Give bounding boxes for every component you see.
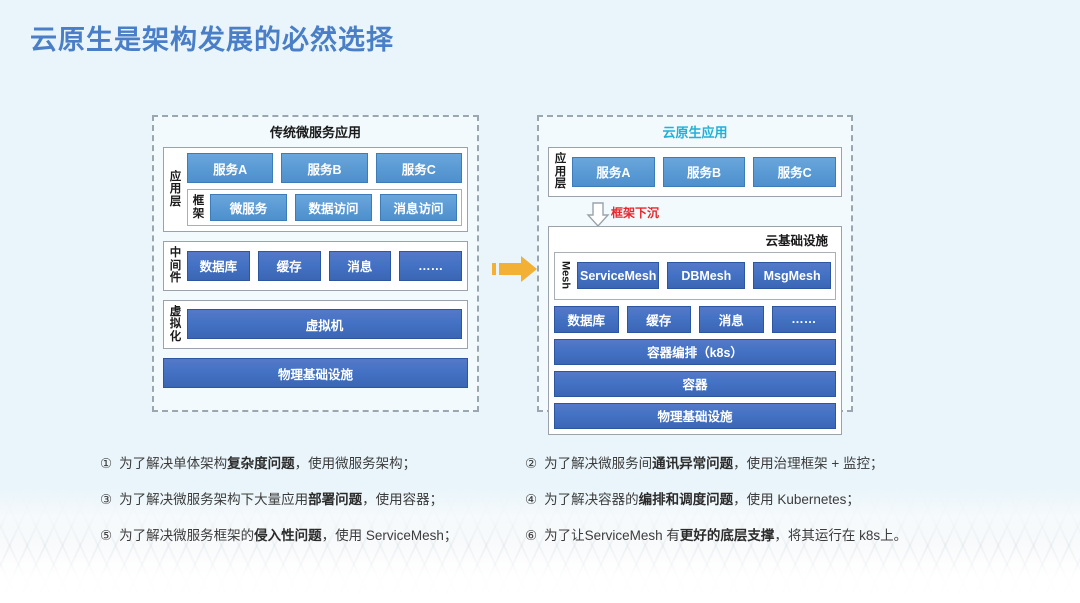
left-app-layer-label: 应用层 (168, 171, 183, 209)
traditional-architecture-panel: 传统微服务应用 应用层 服务A 服务B 服务C 框架 微服务 数据访问 消息访问… (152, 115, 479, 412)
left-app-layer-content: 服务A 服务B 服务C 框架 微服务 数据访问 消息访问 (187, 153, 462, 226)
left-physical-infra-row: 物理基础设施 (163, 358, 468, 388)
bullet-item: ② 为了解决微服务间通讯异常问题，使用治理框架 + 监控； (525, 452, 975, 488)
bullet-text: 为了解决微服务框架的侵入性问题，使用 ServiceMesh； (119, 524, 457, 544)
left-virtualization-group: 虚拟化 虚拟机 (163, 300, 468, 350)
left-middleware-more[interactable]: …… (399, 251, 462, 281)
framework-sink-label: 框架下沉 (611, 204, 659, 221)
container-orchestration[interactable]: 容器编排（k8s） (554, 339, 836, 365)
left-services-row: 服务A 服务B 服务C (187, 153, 462, 183)
right-middleware-row: 数据库 缓存 消息 …… (554, 306, 836, 333)
bullet-item: ⑤ 为了解决微服务框架的侵入性问题，使用 ServiceMesh； (100, 524, 530, 560)
left-middleware-group: 中间件 数据库 缓存 消息 …… (163, 241, 468, 291)
cloud-native-architecture-panel: 云原生应用 应用层 服务A 服务B 服务C 框架下沉 云基础设施 Mesh Se… (537, 115, 853, 412)
mesh-label: Mesh (558, 257, 573, 295)
cloud-infrastructure-title: 云基础设施 (554, 230, 828, 249)
right-physical-infra-row: 物理基础设施 (554, 403, 836, 429)
msg-mesh[interactable]: MsgMesh (753, 262, 831, 289)
bullet-number: ⑥ (525, 528, 537, 544)
left-middleware-database[interactable]: 数据库 (187, 251, 250, 281)
bullet-column-right: ② 为了解决微服务间通讯异常问题，使用治理框架 + 监控； ④ 为了解决容器的编… (525, 452, 975, 560)
container-row: 容器 (554, 371, 836, 397)
page-title: 云原生是架构发展的必然选择 (30, 18, 394, 57)
bullet-number: ② (525, 456, 537, 472)
right-app-layer-label: 应用层 (553, 153, 568, 191)
right-panel-title: 云原生应用 (539, 122, 851, 141)
left-service-c[interactable]: 服务C (376, 153, 462, 183)
bullet-number: ④ (525, 492, 537, 508)
right-service-b[interactable]: 服务B (663, 157, 746, 187)
bullet-text: 为了解决微服务架构下大量应用部署问题，使用容器； (119, 488, 443, 508)
bullet-text: 为了解决微服务间通讯异常问题，使用治理框架 + 监控； (544, 452, 883, 472)
framework-sink-annotation: 框架下沉 (539, 204, 851, 226)
right-middleware-message[interactable]: 消息 (699, 306, 764, 333)
left-app-layer-group: 应用层 服务A 服务B 服务C 框架 微服务 数据访问 消息访问 (163, 147, 468, 232)
bullet-text: 为了让ServiceMesh 有更好的底层支撑，将其运行在 k8s上。 (544, 524, 907, 544)
left-service-a[interactable]: 服务A (187, 153, 273, 183)
left-framework-microservice[interactable]: 微服务 (210, 194, 287, 221)
db-mesh[interactable]: DBMesh (667, 262, 745, 289)
left-framework-message-access[interactable]: 消息访问 (380, 194, 457, 221)
bullet-item: ⑥ 为了让ServiceMesh 有更好的底层支撑，将其运行在 k8s上。 (525, 524, 975, 560)
right-middleware-cache[interactable]: 缓存 (627, 306, 692, 333)
right-service-a[interactable]: 服务A (572, 157, 655, 187)
bullet-number: ① (100, 456, 112, 472)
left-middleware-cache[interactable]: 缓存 (258, 251, 321, 281)
left-framework-row: 微服务 数据访问 消息访问 (210, 194, 457, 221)
right-middleware-database[interactable]: 数据库 (554, 306, 619, 333)
left-framework-data-access[interactable]: 数据访问 (295, 194, 372, 221)
left-framework-label: 框架 (191, 195, 206, 220)
cloud-infrastructure-group: 云基础设施 Mesh ServiceMesh DBMesh MsgMesh 数据… (548, 226, 842, 435)
bullet-text: 为了解决单体架构复杂度问题，使用微服务架构； (119, 452, 416, 472)
right-app-layer-group: 应用层 服务A 服务B 服务C (548, 147, 842, 197)
left-framework-group: 框架 微服务 数据访问 消息访问 (187, 189, 462, 226)
left-virtualization-row: 虚拟机 (187, 309, 462, 339)
mesh-row: ServiceMesh DBMesh MsgMesh (577, 262, 831, 289)
bullet-column-left: ① 为了解决单体架构复杂度问题，使用微服务架构； ③ 为了解决微服务架构下大量应… (100, 452, 530, 560)
orchestration-row: 容器编排（k8s） (554, 339, 836, 365)
bullet-number: ③ (100, 492, 112, 508)
bullet-item: ① 为了解决单体架构复杂度问题，使用微服务架构； (100, 452, 530, 488)
left-panel-title: 传统微服务应用 (154, 122, 477, 141)
bullet-item: ③ 为了解决微服务架构下大量应用部署问题，使用容器； (100, 488, 530, 524)
left-physical-infrastructure[interactable]: 物理基础设施 (163, 358, 468, 388)
service-mesh[interactable]: ServiceMesh (577, 262, 659, 289)
bullet-text: 为了解决容器的编排和调度问题，使用 Kubernetes； (544, 488, 860, 508)
left-service-b[interactable]: 服务B (281, 153, 367, 183)
transition-arrow-icon (490, 252, 540, 286)
right-physical-infrastructure[interactable]: 物理基础设施 (554, 403, 836, 429)
right-service-c[interactable]: 服务C (753, 157, 836, 187)
down-arrow-icon (586, 202, 610, 228)
mesh-group: Mesh ServiceMesh DBMesh MsgMesh (554, 252, 836, 300)
left-virtual-machine[interactable]: 虚拟机 (187, 309, 462, 339)
container-layer[interactable]: 容器 (554, 371, 836, 397)
right-middleware-more[interactable]: …… (772, 306, 837, 333)
left-middleware-row: 数据库 缓存 消息 …… (187, 251, 462, 281)
left-middleware-message[interactable]: 消息 (329, 251, 392, 281)
right-services-row: 服务A 服务B 服务C (572, 157, 836, 187)
left-middleware-label: 中间件 (168, 247, 183, 285)
bullet-number: ⑤ (100, 528, 112, 544)
left-virtualization-label: 虚拟化 (168, 306, 183, 344)
bullet-item: ④ 为了解决容器的编排和调度问题，使用 Kubernetes； (525, 488, 975, 524)
